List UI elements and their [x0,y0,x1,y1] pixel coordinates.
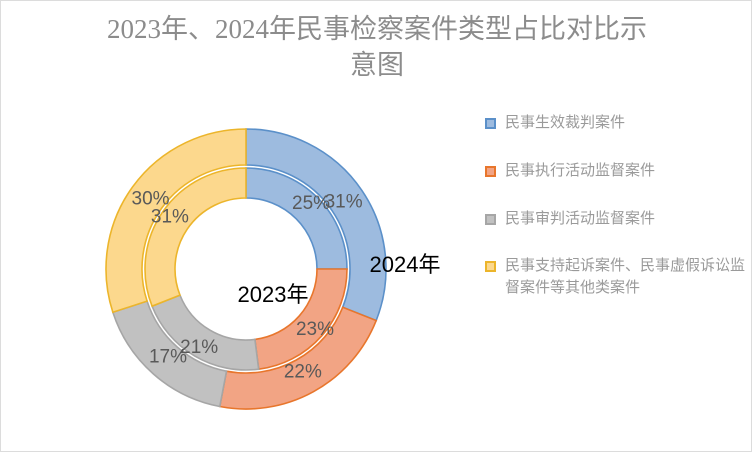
segment-percentage-label: 22% [284,361,322,382]
segment-percentage-label: 23% [296,319,334,340]
segment-percentage-label: 31% [151,206,189,227]
legend-swatch-icon [485,166,496,177]
legend-item-0[interactable]: 民事生效裁判案件 [485,113,747,135]
legend-label: 民事生效裁判案件 [505,113,625,135]
ring-name-outer: 2024年 [370,252,441,277]
legend-swatch-icon [485,118,496,129]
legend-item-2[interactable]: 民事审判活动监督案件 [485,209,747,231]
legend-item-1[interactable]: 民事执行活动监督案件 [485,161,747,183]
legend-item-3[interactable]: 民事支持起诉案件、民事虚假诉讼监督案件等其他类案件 [485,256,747,300]
legend-label: 民事支持起诉案件、民事虚假诉讼监督案件等其他类案件 [505,256,747,300]
ring-name-inner: 2023年 [238,282,309,307]
segment-percentage-label: 31% [325,192,363,213]
segment-percentage-label: 21% [180,337,218,358]
segment-percentage-label: 25% [292,193,330,214]
legend-label: 民事执行活动监督案件 [505,161,655,183]
legend-label: 民事审判活动监督案件 [505,209,655,231]
chart-canvas: 2023年、2024年民事检察案件类型占比对比示意图 31%22%17%30%2… [0,0,752,452]
legend-swatch-icon [485,214,496,225]
donut-chart: 31%22%17%30%25%23%21%31% 2023年2024年 [1,1,471,452]
donut-svg: 31%22%17%30%25%23%21%31% 2023年2024年 [1,1,471,452]
legend: 民事生效裁判案件民事执行活动监督案件民事审判活动监督案件民事支持起诉案件、民事虚… [485,113,747,326]
legend-swatch-icon [485,261,496,272]
